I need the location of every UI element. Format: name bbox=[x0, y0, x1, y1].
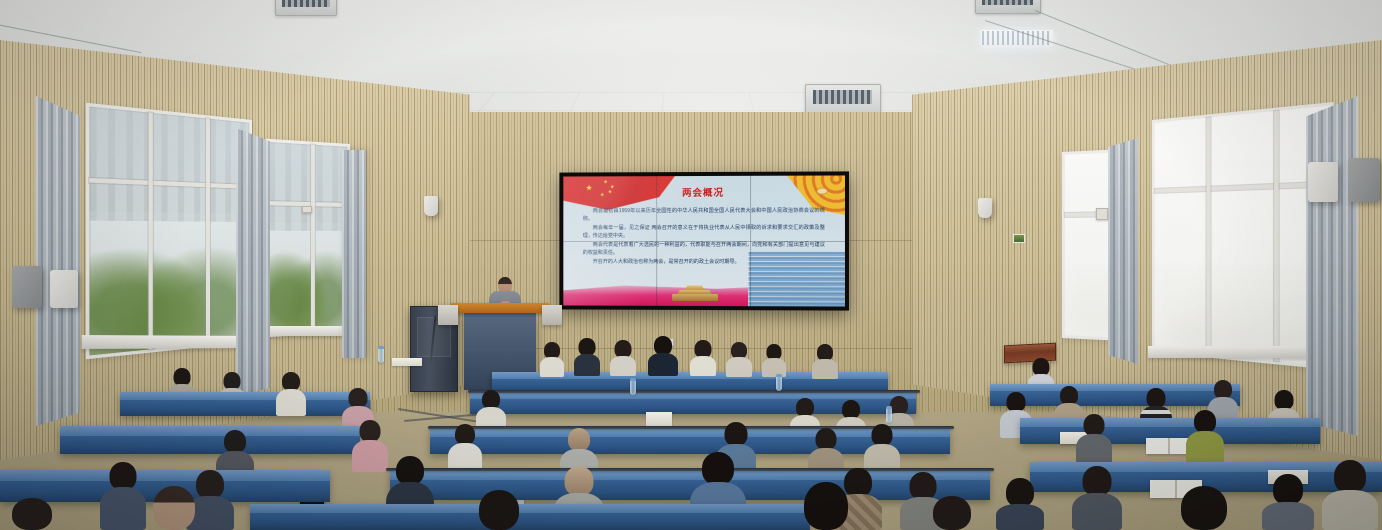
audience-person-r6-5 bbox=[690, 340, 716, 376]
person-torso bbox=[690, 356, 716, 376]
person-head bbox=[702, 452, 734, 485]
person-head bbox=[1334, 460, 1366, 493]
person-head bbox=[110, 462, 137, 490]
person-torso bbox=[1072, 493, 1122, 530]
audience-person-r3-8 bbox=[996, 478, 1044, 530]
audience-person-r6-6 bbox=[726, 342, 752, 376]
audience-person-r6-4 bbox=[648, 336, 678, 376]
emergency-exit-sign bbox=[1013, 234, 1025, 243]
person-torso bbox=[996, 504, 1044, 530]
person-torso bbox=[540, 357, 564, 377]
desk-surface bbox=[990, 384, 1240, 391]
audience-person-r4-2 bbox=[448, 424, 482, 474]
slide-title: 两会概况 bbox=[563, 185, 845, 200]
person-head bbox=[1083, 466, 1112, 496]
person-head bbox=[933, 496, 971, 530]
window-left-2 bbox=[266, 139, 350, 338]
person-head bbox=[1006, 478, 1034, 507]
desk-surface bbox=[60, 426, 360, 436]
wall-outlet-plate-right[interactable] bbox=[1096, 208, 1108, 220]
curtain-left-mid[interactable] bbox=[236, 128, 270, 396]
desk-surface bbox=[470, 392, 916, 399]
person-head bbox=[872, 424, 893, 446]
audience-person-r3-9 bbox=[1072, 466, 1122, 530]
person-torso bbox=[762, 358, 786, 377]
person-torso bbox=[726, 357, 752, 377]
curtain-left-inner[interactable] bbox=[342, 150, 366, 358]
window-view-trees bbox=[89, 211, 249, 355]
video-wall-display[interactable]: ★ ★ ★ ★ ★ 两会概况 两会最初由1959年以来历年全国性的中华人民共和国… bbox=[559, 171, 849, 310]
person-torso bbox=[352, 440, 388, 472]
audience-person-r6-2 bbox=[574, 338, 600, 376]
person-head bbox=[1181, 486, 1227, 530]
window-view-building bbox=[89, 107, 249, 223]
audience-person-front-4 bbox=[920, 496, 984, 530]
wall-outlet-plate-left[interactable] bbox=[302, 206, 312, 213]
person-torso-olive bbox=[1186, 431, 1224, 464]
ac-vent-top-right bbox=[975, 0, 1041, 14]
paper-stack-2 bbox=[392, 358, 422, 366]
person-head bbox=[1084, 414, 1105, 436]
secondary-screen-panel bbox=[748, 251, 845, 306]
person-head bbox=[1194, 410, 1216, 433]
person-head bbox=[455, 424, 475, 445]
ac-vent-top-left bbox=[275, 0, 337, 16]
desk-surface bbox=[1020, 418, 1320, 427]
window-left-1 bbox=[86, 103, 252, 360]
slide-paragraph-1: 两会最初由1959年以来历年全国性的中华人民共和国全国人民代表大会和中国人民政治… bbox=[583, 207, 825, 224]
wall-speaker-right-far bbox=[1348, 158, 1380, 202]
audience-person-r4-1 bbox=[352, 420, 388, 472]
person-head-balding bbox=[568, 428, 590, 451]
audience-person-front-6 bbox=[0, 498, 64, 530]
gate-upper-roof bbox=[684, 285, 704, 290]
audience-person-r6-8 bbox=[812, 344, 838, 378]
window-view-trees bbox=[269, 223, 347, 334]
audience-person-r4-7 bbox=[1076, 414, 1112, 466]
window-sill-left-1 bbox=[82, 335, 260, 349]
podium-wing-left bbox=[438, 305, 458, 325]
person-head bbox=[816, 428, 837, 450]
window-mullion-v-2 bbox=[206, 118, 210, 343]
person-torso bbox=[610, 356, 636, 376]
wall-speaker-back-left bbox=[424, 196, 438, 216]
wall-speaker-back-right bbox=[978, 198, 992, 218]
person-head bbox=[224, 430, 246, 453]
person-head bbox=[1007, 392, 1026, 412]
slide-canvas: ★ ★ ★ ★ ★ 两会概况 两会最初由1959年以来历年全国性的中华人民共和国… bbox=[563, 175, 845, 306]
window-mullion-v-1 bbox=[1207, 117, 1211, 354]
audience-person-r3-11 bbox=[1322, 460, 1378, 530]
person-head bbox=[12, 498, 52, 530]
desk-surface bbox=[0, 470, 330, 481]
curtain-right-inner[interactable] bbox=[1108, 138, 1138, 364]
window-mullion-v bbox=[311, 145, 315, 332]
desk-surface bbox=[120, 392, 370, 400]
person-head bbox=[565, 466, 594, 496]
person-torso bbox=[1322, 490, 1378, 530]
person-head bbox=[479, 490, 519, 530]
audience-person-front-2 bbox=[466, 490, 532, 530]
curtain-right-edge[interactable] bbox=[1306, 96, 1358, 436]
person-torso bbox=[1262, 502, 1314, 530]
desk-rail-5 bbox=[468, 390, 920, 393]
person-head bbox=[349, 388, 368, 408]
person-head bbox=[725, 422, 748, 446]
wall-speaker-left-near bbox=[50, 270, 78, 308]
person-torso bbox=[812, 359, 838, 379]
person-head bbox=[1273, 474, 1303, 505]
window-sill-right-1 bbox=[1148, 346, 1330, 358]
audience-person-r4-8 bbox=[1186, 410, 1224, 464]
audience-person-r3-10 bbox=[1262, 474, 1314, 530]
desk-row-4-left bbox=[60, 426, 360, 454]
window-view-building bbox=[269, 142, 347, 231]
person-head bbox=[1275, 390, 1294, 410]
window-mullion-v-1 bbox=[148, 113, 152, 350]
water-bottle-1 bbox=[630, 378, 636, 395]
wall-speaker-left-far bbox=[12, 266, 42, 308]
person-head bbox=[1147, 388, 1166, 408]
gate-base bbox=[672, 294, 718, 301]
water-bottle-2 bbox=[776, 374, 782, 391]
audience-person-r5-11 bbox=[276, 372, 306, 416]
lecture-hall-scene: ★ ★ ★ ★ ★ 两会概况 两会最初由1959年以来历年全国性的中华人民共和国… bbox=[0, 0, 1382, 530]
person-torso bbox=[276, 389, 306, 416]
tiananmen-gate-graphic bbox=[672, 285, 718, 301]
audience-person-front-1 bbox=[140, 486, 208, 530]
audience-person-front-3 bbox=[790, 482, 862, 530]
audience-person-r6-1 bbox=[540, 342, 564, 376]
window-overexposed-glare bbox=[1155, 106, 1330, 366]
podium-desktop bbox=[451, 303, 549, 313]
water-bottle-3 bbox=[378, 346, 384, 363]
wall-speaker-right-near bbox=[1308, 162, 1338, 202]
person-torso bbox=[574, 354, 600, 376]
slide-paragraph-2: 两会每年一届，见之保证 两会召开的意义在于将执业代表从人民中择取的诉求和要求交汇… bbox=[583, 224, 825, 241]
window-mullion-v-2 bbox=[1274, 111, 1278, 361]
paper-stack-1 bbox=[646, 412, 672, 426]
person-torso-yankees-shirt bbox=[648, 353, 678, 376]
person-head bbox=[804, 482, 848, 530]
audience-person-r6-7 bbox=[762, 344, 786, 376]
audience-person-r6-3 bbox=[610, 340, 636, 376]
person-head bbox=[396, 456, 424, 485]
desk-row-5-left bbox=[120, 392, 370, 416]
person-head bbox=[153, 486, 195, 530]
podium-wing-right bbox=[542, 305, 562, 325]
person-head bbox=[360, 420, 381, 442]
curtain-left-edge[interactable] bbox=[36, 96, 80, 426]
water-bottle-4 bbox=[886, 406, 892, 423]
audience-person-front-5 bbox=[1166, 486, 1242, 530]
